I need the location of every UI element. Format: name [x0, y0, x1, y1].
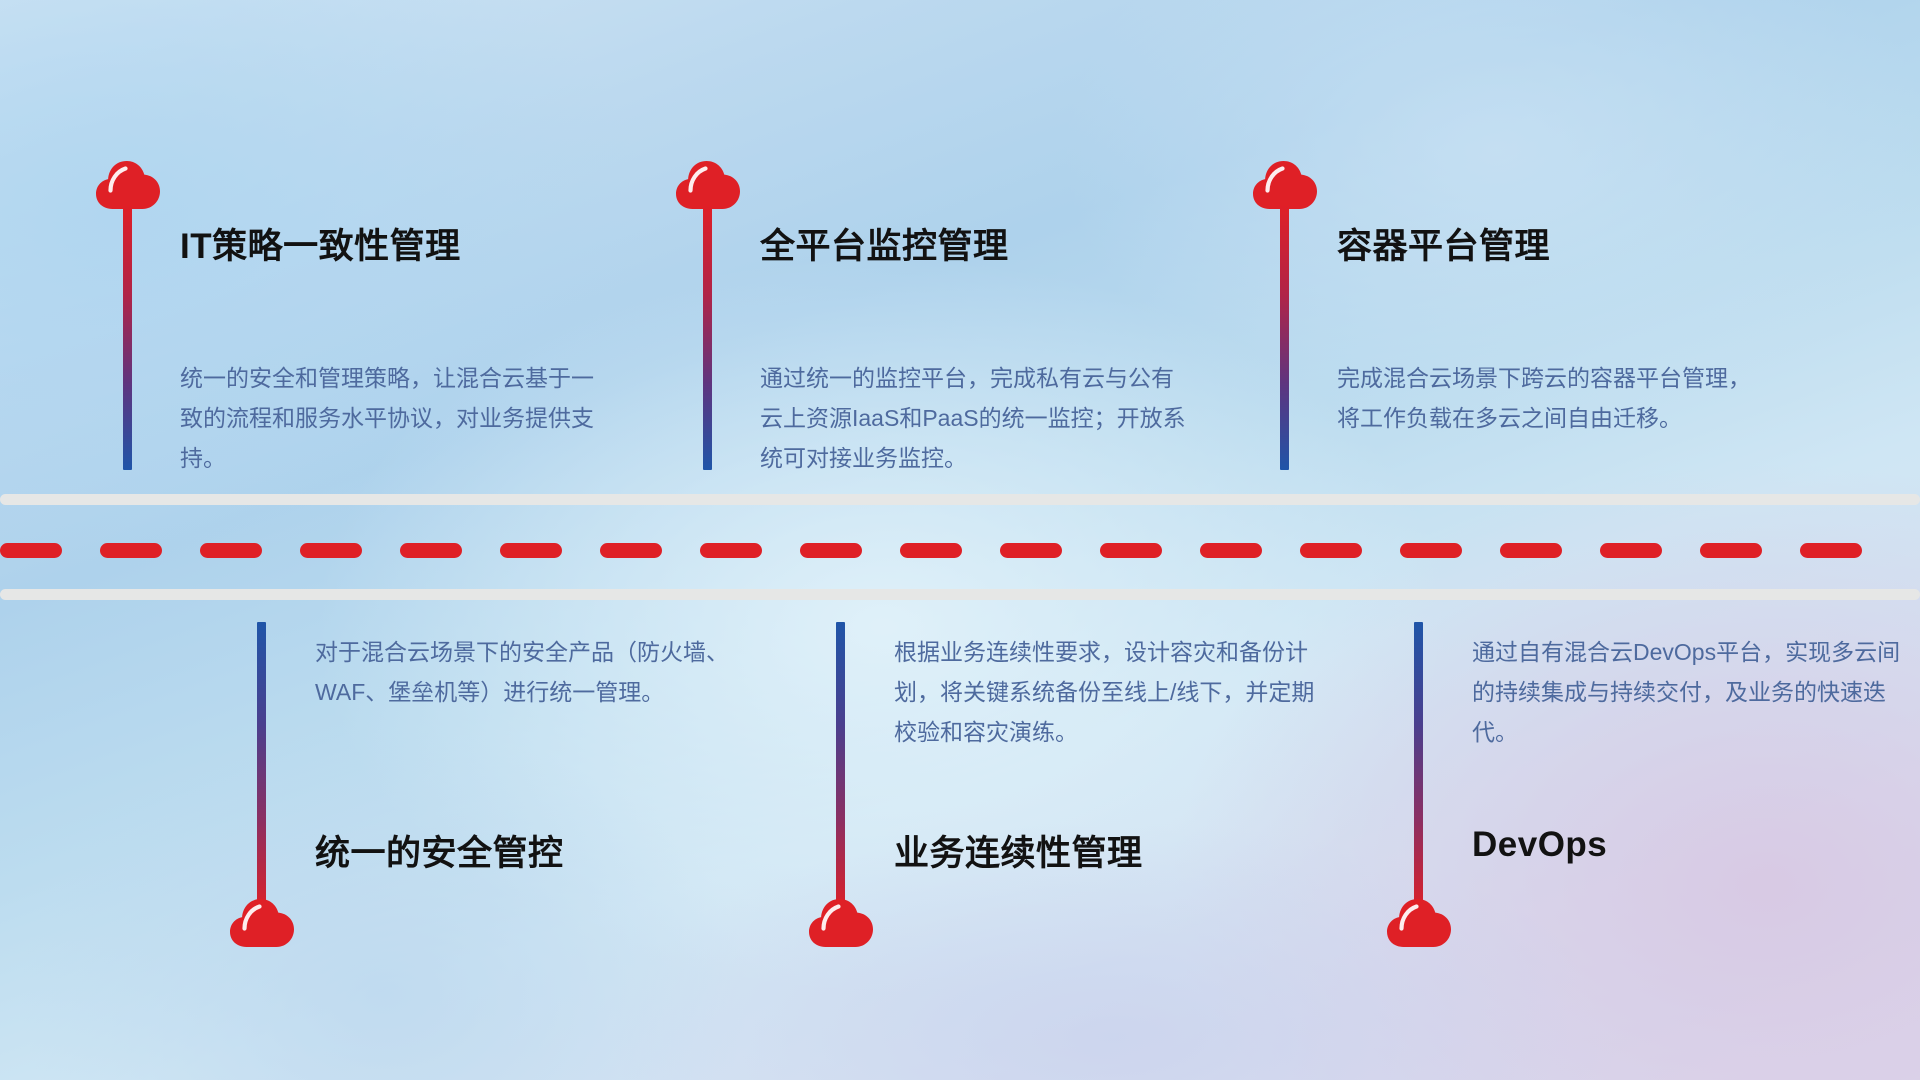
top-item-1-description: 统一的安全和管理策略，让混合云基于一致的流程和服务水平协议，对业务提供支持。 [180, 358, 610, 478]
stem-connector [703, 205, 712, 470]
cloud-icon [808, 898, 874, 948]
top-item-3-description: 完成混合云场景下跨云的容器平台管理，将工作负载在多云之间自由迁移。 [1337, 358, 1767, 438]
top-item-3-title: 容器平台管理 [1337, 218, 1550, 269]
road-dash [1800, 543, 1862, 558]
bottom-item-3-title: DevOps [1472, 825, 1607, 865]
stem-connector [1414, 622, 1423, 905]
road-dash [1200, 543, 1262, 558]
infographic-canvas: IT策略一致性管理 统一的安全和管理策略，让混合云基于一致的流程和服务水平协议，… [0, 0, 1920, 1080]
bottom-item-3-description: 通过自有混合云DevOps平台，实现多云间的持续集成与持续交付，及业务的快速迭代… [1472, 632, 1902, 752]
bottom-item-1-title: 统一的安全管控 [315, 825, 564, 876]
road-dash [1600, 543, 1662, 558]
road-dash [700, 543, 762, 558]
bottom-item-2-description: 根据业务连续性要求，设计容灾和备份计划，将关键系统备份至线上/线下，并定期校验和… [894, 632, 1324, 752]
stem-connector [123, 205, 132, 470]
road-dash [1300, 543, 1362, 558]
road-dash [1000, 543, 1062, 558]
cloud-icon [229, 898, 295, 948]
road-dash [200, 543, 262, 558]
bottom-item-2-title: 业务连续性管理 [894, 825, 1143, 876]
stem-connector [257, 622, 266, 905]
cloud-icon [95, 160, 161, 210]
road-dash [400, 543, 462, 558]
road-dash [1700, 543, 1762, 558]
top-item-2-title: 全平台监控管理 [760, 218, 1009, 269]
road-dash [100, 543, 162, 558]
top-item-1-title: IT策略一致性管理 [180, 218, 461, 269]
stem-connector [836, 622, 845, 905]
stem-connector [1280, 205, 1289, 470]
road-dash [1100, 543, 1162, 558]
cloud-icon [1386, 898, 1452, 948]
road-dash [1500, 543, 1562, 558]
road-edge-line-bottom [0, 589, 1920, 600]
road-center-dashes [0, 543, 1920, 558]
top-item-2-description: 通过统一的监控平台，完成私有云与公有云上资源IaaS和PaaS的统一监控；开放系… [760, 358, 1190, 478]
road-dash [600, 543, 662, 558]
road-dash [1400, 543, 1462, 558]
cloud-icon [675, 160, 741, 210]
cloud-icon [1252, 160, 1318, 210]
road-dash [500, 543, 562, 558]
bottom-item-1-description: 对于混合云场景下的安全产品（防火墙、WAF、堡垒机等）进行统一管理。 [315, 632, 745, 712]
road-dash [800, 543, 862, 558]
road-dash [900, 543, 962, 558]
road-dash [0, 543, 62, 558]
road-edge-line-top [0, 494, 1920, 505]
road-dash [300, 543, 362, 558]
